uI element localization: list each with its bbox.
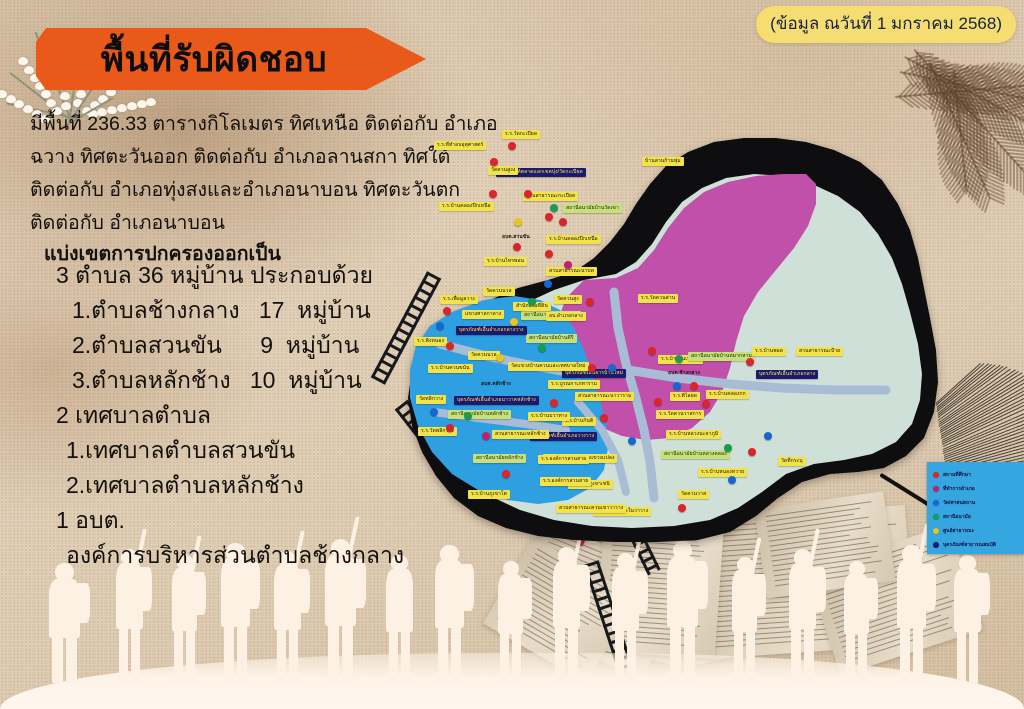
map-place-label: วัดทลิกวาง xyxy=(416,395,446,404)
map-point-marker xyxy=(544,280,552,288)
flower-petal xyxy=(146,98,156,106)
map-point-marker xyxy=(482,432,490,440)
legend-item-label: สถานีอนามัย xyxy=(943,513,971,521)
map-place-label: ร.ร.บ้านบวาทาง xyxy=(528,412,570,421)
map-point-marker xyxy=(545,250,553,258)
map-point-marker xyxy=(502,470,510,478)
map-place-label: ร.ร.บูรณกาเภทาราม xyxy=(548,380,600,389)
map-place-label: วัดควนสูงง xyxy=(488,166,518,175)
legend-dot-icon xyxy=(933,472,939,478)
map-place-label: ร.ร.บ้านหลวงนะจาภูมิ xyxy=(666,430,721,439)
map-place-label: สวนสาธารณะหลักช้าง xyxy=(492,430,549,439)
legend-item: สถานที่ศึกษา xyxy=(933,468,1019,482)
map-place-label: ร.ร.พิไลยด xyxy=(670,392,700,401)
map-point-marker xyxy=(496,354,504,362)
map-place-label: วัดควนสูง xyxy=(554,295,582,304)
legend-item: บุตรภัณฑ์สาธารณสมบัติ xyxy=(933,538,1019,552)
map-point-marker xyxy=(678,504,686,512)
map-place-label: ร.ร.วัดควนวาสการ xyxy=(656,410,704,419)
map-place-label: วัดควนนวล xyxy=(483,287,515,296)
map-point-marker xyxy=(728,476,736,484)
map-point-marker xyxy=(588,364,596,372)
map-place-label: สวนสาธารณะนาบด xyxy=(546,267,597,276)
map-place-label: แขวงศาลกาลาง xyxy=(462,310,504,319)
legend-item: สถานีอนามัย xyxy=(933,510,1019,524)
map-point-marker xyxy=(436,322,444,330)
map-place-label: ร.ร.บ้านคลองกก xyxy=(706,390,749,399)
map-point-marker xyxy=(524,190,532,198)
map-place-label: สวนสาธารณะนาวาราม xyxy=(575,392,634,401)
map-point-marker xyxy=(559,218,567,226)
map-point-marker xyxy=(690,382,698,390)
legend-item-label: ศูนย์สาธารณะ xyxy=(943,527,974,535)
book-text-line xyxy=(525,570,600,614)
flower-petal xyxy=(6,95,16,103)
map-point-marker xyxy=(600,414,608,422)
map-point-marker xyxy=(675,355,683,363)
map-place-label: ร.ร.บ้านคลองปีกเหนือ xyxy=(439,202,494,211)
map-point-marker xyxy=(654,398,662,406)
map-point-marker xyxy=(550,204,558,212)
map-point-marker xyxy=(514,218,522,226)
map-place-label: สถานีอนามัยบ้านหมากหาม xyxy=(688,352,755,361)
map-point-marker xyxy=(724,444,732,452)
map-place-label: สถานีอนามัยบ้านหลวงคลอง xyxy=(661,450,730,459)
map-place-label: บุตรภัณฑ์เอื้นอำเภอกลาง xyxy=(756,370,818,379)
legend-item-label: ที่ทำการอำเภอ xyxy=(943,485,975,493)
map-place-label: ร.ร.บ้านหนองหวาย xyxy=(698,468,747,477)
map-place-label: ร.ร.องค์การสวนสาธ xyxy=(538,455,589,464)
map-point-marker xyxy=(508,142,516,150)
map-point-marker xyxy=(764,432,772,440)
map-place-label: สถานีอนามัยบ้านหลักช้าง xyxy=(448,410,511,419)
page-title: พื้นที่รับผิดชอบ xyxy=(101,32,361,87)
legend-dot-icon xyxy=(933,500,939,506)
legend-item-label: บุตรภัณฑ์สาธารณสมบัติ xyxy=(943,541,996,549)
legend-dot-icon xyxy=(933,486,939,492)
legend-dot-icon xyxy=(933,528,939,534)
map-place-label: สวนสาธารณะควนเขาวาวาง xyxy=(556,504,626,513)
map-point-marker xyxy=(510,318,518,326)
map-point-marker xyxy=(513,243,521,251)
map-point-marker xyxy=(446,424,454,432)
map-place-label: วัดแขวงบ้านควนและเทศบาลใหม่ xyxy=(508,362,589,371)
map-place-label: วัดที่กระบุ xyxy=(778,457,806,466)
map-point-marker xyxy=(446,342,454,350)
flower-petal xyxy=(137,100,147,108)
map-place-label: วัดควนวาส xyxy=(678,490,709,499)
map-place-label: ร.ร.บ้านควนขนัน xyxy=(428,364,473,373)
map-point-marker xyxy=(489,190,497,198)
map-place-label: ร.ร.เพื่อมูลวาง xyxy=(440,295,478,304)
map-point-marker xyxy=(550,399,558,407)
map-point-marker xyxy=(545,213,553,221)
map-place-label: สวนสาธารณะป้าย xyxy=(796,347,843,356)
map-point-marker xyxy=(586,298,594,306)
map-point-marker xyxy=(628,437,636,445)
map-point-marker xyxy=(490,158,498,166)
book-text-line xyxy=(606,639,687,646)
map-place-label: ร.ร.บ้านไทรพอน xyxy=(484,257,527,266)
district-map: ร.ร.วัดกะเปียดร.ร.ที่ทำอบอุตุศาสตร์บ้านส… xyxy=(378,112,978,552)
header-banner: พื้นที่รับผิดชอบ xyxy=(36,28,426,90)
map-point-marker xyxy=(464,412,472,420)
map-point-marker xyxy=(748,448,756,456)
legend-dot-icon xyxy=(933,514,939,520)
map-place-label: ร.ร.ที่ทำอบอุตุศาสตร์ xyxy=(434,141,486,150)
map-point-marker xyxy=(746,358,754,366)
map-point-marker xyxy=(564,261,572,269)
map-point-marker xyxy=(648,347,656,355)
map-place-label: บุตรภัณฑ์เอื้นอำเภอกลางวาง xyxy=(456,326,527,335)
map-point-marker xyxy=(443,307,451,315)
map-place-label: ร.ร.วัดกะเปียด xyxy=(502,130,540,139)
map-place-label: บ้านสวนก้านพุ่ม xyxy=(642,157,684,166)
map-place-label: อบ.อำเภอกลาง xyxy=(546,312,586,321)
legend-item: ศูนย์สาธารณะ xyxy=(933,524,1019,538)
map-point-marker xyxy=(608,364,616,372)
map-place-label: อบต.สวนขัน xyxy=(499,233,533,242)
map-place-label: ร.ร.วัดควนส่าน xyxy=(638,294,678,303)
map-place-label: ร.ร.บ้านคลองปีกเหนือ xyxy=(546,235,601,244)
map-place-label: ร.ร.องค์การสวนสาธ xyxy=(540,477,591,486)
legend-dot-icon xyxy=(933,542,939,548)
map-place-label: สถานีอนามัยบ้านวัดเขา xyxy=(563,204,622,213)
legend-item: วัด/ศาสนสถาน xyxy=(933,496,1019,510)
map-place-label: ร.ร.บ้านพอด xyxy=(752,347,786,356)
flower-petal xyxy=(24,66,34,74)
map-place-label: สถานีอนามัยบ้านคีรี xyxy=(526,334,577,343)
map-place-label: อบต.ช้างกลาง xyxy=(665,369,703,378)
map-legend: สถานที่ศึกษาที่ทำการอำเภอวัด/ศาสนสถานสถา… xyxy=(927,462,1024,554)
legend-item: ที่ทำการอำเภอ xyxy=(933,482,1019,496)
date-badge: (ข้อมูล ณวันที่ 1 มกราคม 2568) xyxy=(756,6,1016,43)
map-place-label: ร.ร.พิงหนอง xyxy=(414,337,447,346)
map-place-label: วัดควนนวล xyxy=(468,351,500,360)
map-place-label: สถานีอนามัยหลักช้าง xyxy=(473,454,526,463)
map-place-label: บุตรภัณฑ์เอื้นอำเภอนาวาคหลักช้าง xyxy=(454,396,539,405)
flower-petal xyxy=(46,99,56,107)
map-place-label: ร.ร.บ้านภูเขาโต xyxy=(468,490,510,499)
map-point-marker xyxy=(528,298,536,306)
legend-item-label: วัด/ศาสนสถาน xyxy=(943,499,975,507)
map-point-marker xyxy=(673,382,681,390)
map-point-marker xyxy=(702,400,710,408)
legend-item-label: สถานที่ศึกษา xyxy=(943,471,971,479)
map-point-marker xyxy=(430,408,438,416)
map-place-label: อบต.หลักช้าง xyxy=(478,380,514,389)
map-point-marker xyxy=(538,344,546,352)
